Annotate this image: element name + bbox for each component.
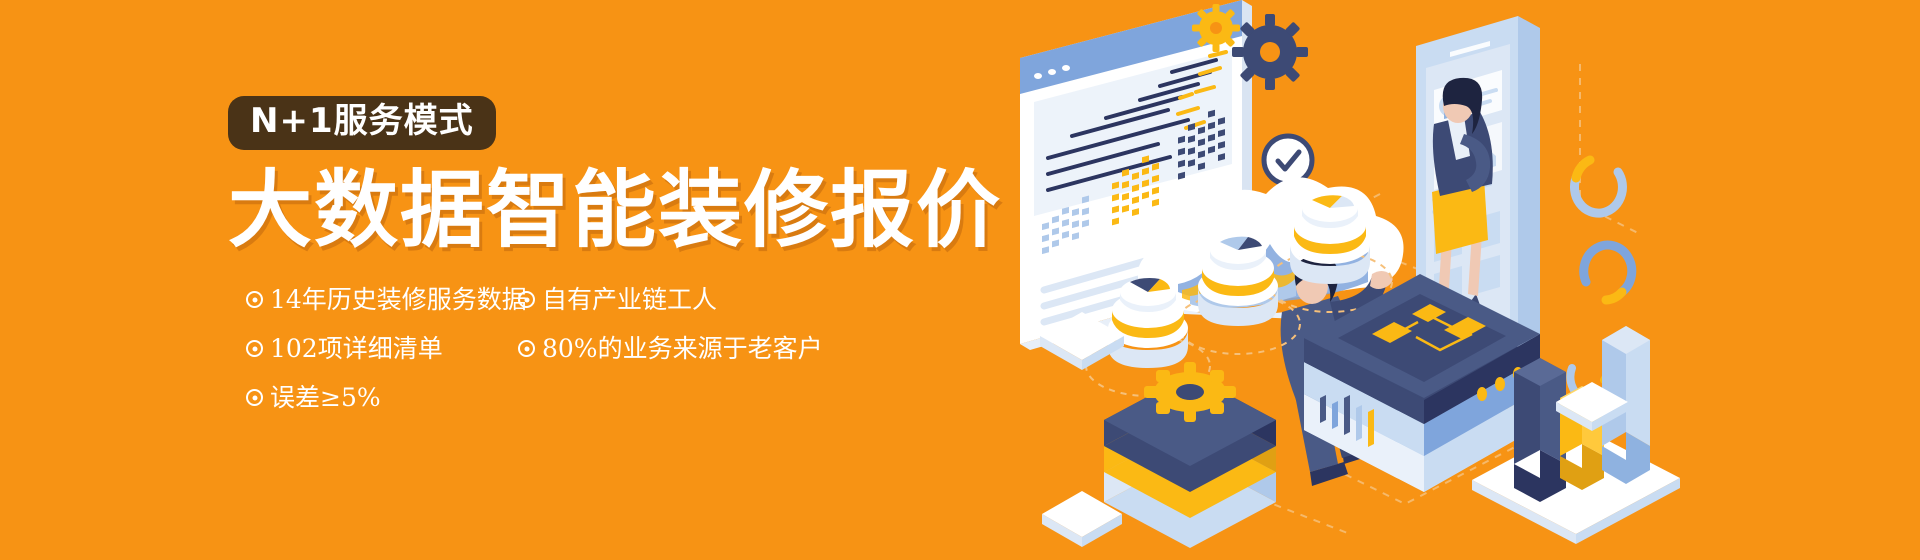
hero-copy: N+1服务模式 大数据智能装修报价 14年历史装修服务数据 102项详细清单 误… — [228, 96, 988, 417]
list-item: 80%的业务来源于老客户 — [518, 336, 823, 361]
list-item-label: 误差≥5% — [270, 385, 381, 410]
list-item: 误差≥5% — [246, 385, 527, 410]
list-item: 14年历史装修服务数据 — [246, 287, 527, 312]
circled-dot-icon — [246, 291, 263, 308]
circled-dot-icon — [518, 340, 535, 357]
circled-dot-icon — [518, 291, 535, 308]
gear-icon-large — [1232, 14, 1308, 90]
page-title: 大数据智能装修报价 — [228, 168, 988, 254]
hero-banner: N+1服务模式 大数据智能装修报价 14年历史装修服务数据 102项详细清单 误… — [0, 0, 1920, 560]
feature-column-left: 14年历史装修服务数据 102项详细清单 误差≥5% — [246, 287, 527, 434]
list-item-label: 自有产业链工人 — [542, 287, 717, 312]
list-item-label: 14年历史装修服务数据 — [270, 287, 527, 312]
service-mode-badge: N+1服务模式 — [228, 96, 496, 150]
circled-dot-icon — [246, 340, 263, 357]
list-item-label: 80%的业务来源于老客户 — [542, 336, 823, 361]
list-item-label: 102项详细清单 — [270, 336, 443, 361]
isometric-big-data-illustration — [1020, 0, 1920, 560]
check-badge-icon — [1264, 136, 1312, 184]
list-item: 自有产业链工人 — [518, 287, 823, 312]
feature-column-right: 自有产业链工人 80%的业务来源于老客户 — [518, 287, 823, 385]
gear-icon-small — [1192, 4, 1240, 52]
circled-dot-icon — [246, 389, 263, 406]
database-stack-with-gear — [1104, 362, 1276, 548]
list-item: 102项详细清单 — [246, 336, 527, 361]
feature-list: 14年历史装修服务数据 102项详细清单 误差≥5% 自有产业链工人 — [228, 287, 868, 417]
